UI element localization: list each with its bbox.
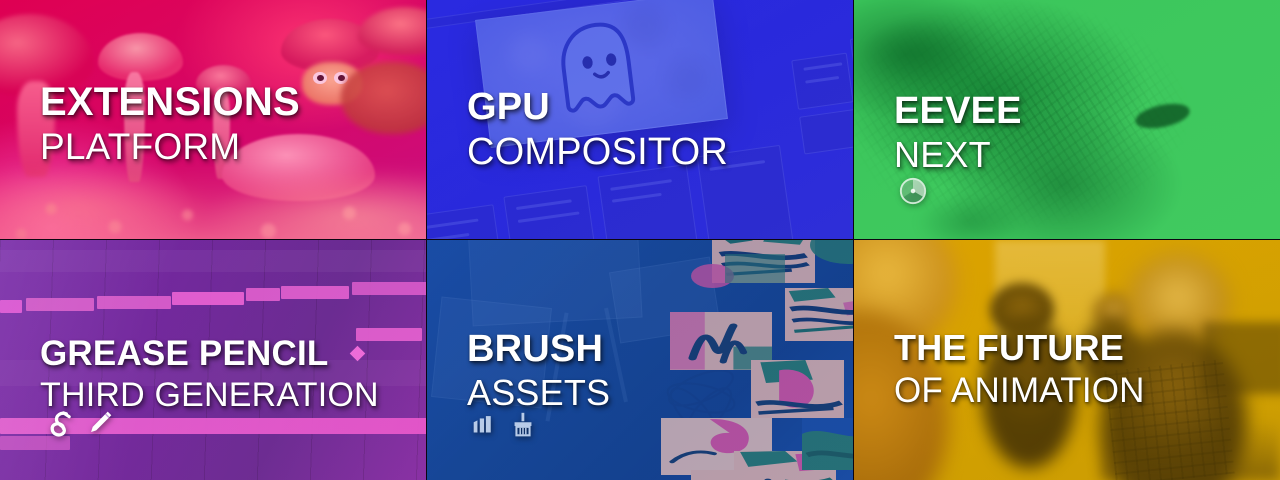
card-subtitle: NEXT [894,137,1022,173]
card-subtitle: OF ANIMATION [894,373,1145,408]
asset-library-icon [469,410,499,440]
card-title: GREASE PENCIL [40,336,379,371]
feature-card-grid: EXTENSIONS PLATFORM [0,0,1280,480]
brush-icon [508,410,538,440]
card-title: GPU [467,88,728,126]
card-brush-assets[interactable]: BRUSH ASSETS [427,240,854,480]
card-title: EEVEE [894,92,1022,130]
card-icons [44,408,115,439]
card-icons [898,176,928,206]
card-subtitle: COMPOSITOR [467,133,728,171]
card-grease-pencil[interactable]: GREASE PENCIL THIRD GENERATION [0,240,427,480]
card-eevee-next[interactable]: EEVEE NEXT [854,0,1280,240]
light-sphere-icon [898,176,928,206]
pencil-icon [84,408,115,439]
card-extensions-platform[interactable]: EXTENSIONS PLATFORM [0,0,427,240]
card-subtitle: THIRD GENERATION [40,378,379,412]
grease-pencil-stroke-icon [44,408,75,439]
card-icons [469,410,538,440]
card-gpu-compositor[interactable]: GPU COMPOSITOR [427,0,854,240]
card-title: THE FUTURE [894,330,1145,366]
card-future-of-animation[interactable]: THE FUTURE OF ANIMATION [854,240,1280,480]
card-title: BRUSH [467,330,610,368]
card-subtitle: PLATFORM [40,128,300,165]
card-subtitle: ASSETS [467,375,610,411]
card-title: EXTENSIONS [40,82,300,122]
